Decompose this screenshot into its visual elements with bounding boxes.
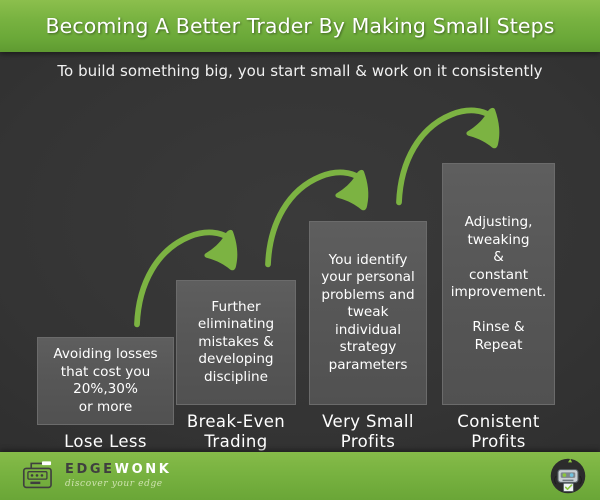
step-2-body: Further eliminating mistakes & developin…	[184, 299, 288, 387]
infographic-canvas: Avoiding losses that cost you 20%,30% or…	[0, 0, 600, 500]
steps-container: Avoiding losses that cost you 20%,30% or…	[0, 52, 600, 452]
brand-tagline: discover your edge	[65, 479, 171, 489]
brand-wordmark: EDGEWONK	[65, 463, 171, 477]
step-4-label: Conistent Profits	[442, 412, 555, 452]
subtitle: To build something big, you start small …	[0, 62, 600, 80]
step-2-box: Further eliminating mistakes & developin…	[176, 280, 296, 405]
page-title: Becoming A Better Trader By Making Small…	[0, 0, 600, 52]
step-2-label: Break-Even Trading	[176, 412, 296, 452]
step-3-box: You identify your personal problems and …	[309, 221, 427, 405]
brand-word-wonk: WONK	[115, 462, 172, 477]
step-2[interactable]: Further eliminating mistakes & developin…	[176, 280, 296, 452]
step-4[interactable]: Adjusting, tweaking & constant improveme…	[442, 163, 555, 452]
brand-word-edge: EDGE	[65, 462, 115, 477]
step-4-body: Adjusting, tweaking & constant improveme…	[450, 214, 547, 354]
step-3-label: Very Small Profits	[309, 412, 427, 452]
footer-bar: EDGEWONK discover your edge	[0, 452, 600, 500]
step-1-body: Avoiding losses that cost you 20%,30% or…	[45, 346, 166, 416]
step-1[interactable]: Avoiding losses that cost you 20%,30% or…	[37, 337, 174, 452]
step-4-box: Adjusting, tweaking & constant improveme…	[442, 163, 555, 405]
edgewonk-card-icon	[18, 459, 56, 491]
header-bar: Becoming A Better Trader By Making Small…	[0, 0, 600, 52]
step-3-body: You identify your personal problems and …	[317, 252, 419, 375]
brand-logo[interactable]: EDGEWONK discover your edge	[18, 459, 171, 491]
step-1-box: Avoiding losses that cost you 20%,30% or…	[37, 337, 174, 425]
step-1-label: Lose Less	[37, 432, 174, 452]
step-3[interactable]: You identify your personal problems and …	[309, 221, 427, 452]
robot-mascot-icon[interactable]	[548, 456, 588, 496]
